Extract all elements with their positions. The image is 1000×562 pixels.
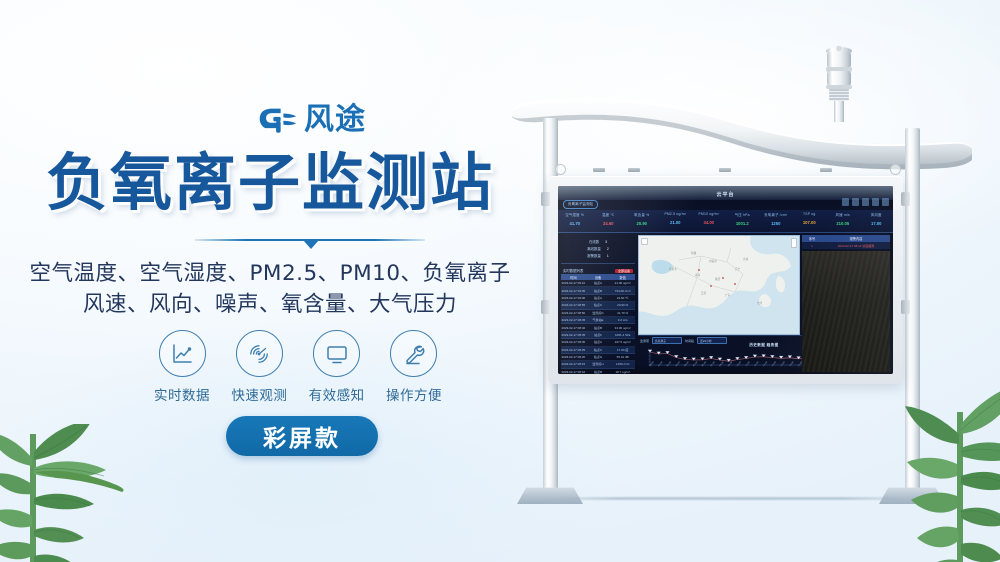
column-header: 序号: [802, 236, 822, 241]
feature-list: 实时数据 快速观测: [148, 330, 448, 404]
stat-value: 41.70: [558, 221, 592, 226]
chart-icon[interactable]: [862, 198, 869, 206]
chart-selector-label: 时间段: [685, 339, 694, 343]
svg-text:03:00: 03:00: [675, 361, 681, 367]
table-cell: 2023-02-17 08:15: [561, 362, 586, 366]
table-cell: 1250 /cm³: [610, 362, 635, 366]
table-cell: 2023-02-17 08:50: [561, 311, 586, 315]
table-cell: 55.10 dB: [610, 355, 635, 359]
table-cell: 2023-02-17 09:10: [561, 281, 586, 285]
svg-text:吉林: 吉林: [743, 257, 749, 261]
svg-text:塔里木: 塔里木: [669, 267, 677, 271]
table-cell: 站点C: [586, 348, 611, 352]
table-row[interactable]: 2023-02-17 09:10站点A21.00 ug/m³: [561, 280, 635, 287]
table-cell: 20.90 %: [610, 303, 635, 307]
stat-label: 氧含量 %: [625, 212, 659, 217]
mini-stat-row: 报警数量 1: [563, 253, 633, 260]
feature-label: 操作方便: [380, 384, 448, 404]
table-row[interactable]: 2023-02-17 08:40站点B34.00 ug/m³: [561, 324, 635, 331]
stat-label: 空气湿度 %: [558, 212, 592, 217]
table-cell: 2023-02-17 08:25: [561, 348, 586, 352]
alarm-text: 2023-02-17 08:12 浓度超限: [822, 244, 890, 248]
table-cell: 2023-02-17 08:55: [561, 303, 586, 307]
mini-stat-value: 3: [605, 239, 607, 246]
table-cell: 站点C: [586, 303, 611, 307]
table-row[interactable]: 2023-02-17 08:20站点G55.10 dB: [561, 354, 635, 361]
table-cell: 3.2 m/s: [610, 318, 635, 322]
stat-card: 气压 hPa 1001.2: [726, 210, 760, 232]
table-cell: 34.00 ug/m³: [610, 326, 635, 330]
stat-value: 17.00: [860, 221, 894, 226]
alarm-row[interactable]: 1 2023-02-17 08:12 浓度超限: [802, 242, 890, 249]
china-map[interactable]: 新疆内蒙古 青海陕西 辽宁云南 广东吉林 塔里木台湾: [638, 235, 800, 335]
mini-stat-label: 在线数: [589, 239, 599, 246]
table-body: 2023-02-17 09:10站点A21.00 ug/m³2023-02-17…: [561, 280, 635, 374]
mount-clip-4: [820, 168, 832, 172]
table-cell: 气象站E: [586, 318, 611, 322]
table-cell: 1001.2 hPa: [610, 333, 635, 337]
table-row[interactable]: 2023-02-17 08:55站点C20.90 %: [561, 302, 635, 309]
table-cell: 2023-02-17 08:35: [561, 333, 586, 337]
stat-value: 107.00: [793, 220, 827, 225]
table-header: 时间 设备 数值: [561, 274, 635, 280]
table-row[interactable]: 2023-02-17 08:45气象站E3.2 m/s: [561, 317, 635, 324]
product-variant-badge[interactable]: 彩屏款: [226, 416, 378, 456]
stat-card: PM2.5 ug/m³ 21.00: [659, 210, 693, 232]
map-icon[interactable]: [852, 198, 859, 206]
table-cell: 站点A: [586, 296, 611, 300]
feature-item-effective-sensing: 有效感知: [303, 330, 371, 404]
table-cell: 站点B: [586, 370, 611, 374]
side-clip-top-left: [541, 192, 550, 206]
table-row[interactable]: 2023-02-17 08:50监测点D41.70 %: [561, 310, 635, 317]
mount-clip-2: [628, 168, 640, 172]
table-cell: 站点G: [586, 355, 611, 359]
stat-value: 34.00: [692, 220, 726, 225]
stat-value: 1250: [759, 221, 793, 226]
feature-item-fast-observation: 快速观测: [225, 330, 293, 404]
ground-shadow: [545, 497, 915, 500]
table-row[interactable]: 2023-02-17 09:00站点A24.60 ℃: [561, 295, 635, 302]
svg-text:青海: 青海: [695, 273, 701, 277]
table-row[interactable]: 2023-02-17 08:15监测点H1250 /cm³: [561, 361, 635, 368]
down-triangle-divider-icon: [303, 240, 319, 249]
table-cell: 107.0 ug/m³: [610, 340, 635, 344]
svg-text:06:00: 06:00: [702, 361, 708, 367]
svg-text:云南: 云南: [701, 291, 707, 295]
table-cell: 2023-02-17 08:10: [561, 370, 586, 374]
side-clip-bottom-left: [541, 300, 550, 314]
mini-stat-value: 2: [607, 246, 609, 253]
svg-text:04:00: 04:00: [684, 361, 690, 367]
stat-card: PM10 ug/m³ 34.00: [692, 210, 726, 232]
svg-text:12:00: 12:00: [754, 361, 760, 367]
column-header: 数值: [610, 275, 635, 280]
stat-value: 21.00: [659, 220, 693, 225]
table-cell: 734.00 /cm³: [610, 289, 635, 293]
table-row[interactable]: 2023-02-17 09:05站点B734.00 /cm³: [561, 287, 635, 294]
feature-label: 实时数据: [148, 384, 216, 404]
stat-value: 210.05: [826, 221, 860, 226]
mini-stat-label: 报警数量: [587, 253, 601, 260]
chart-selector-label: 监测项: [640, 339, 649, 343]
stat-label: 风速 m/s: [826, 212, 860, 217]
column-header: 时间: [561, 275, 586, 280]
feature-item-realtime-data: 实时数据: [148, 330, 216, 404]
stat-value: 1001.2: [726, 221, 760, 226]
table-cell: 41.70 %: [610, 311, 635, 315]
stat-label: PM10 ug/m³: [692, 212, 726, 216]
svg-text:13:00: 13:00: [763, 361, 769, 367]
stat-card: 温度 ℃ 24.60: [592, 210, 626, 232]
feature-label: 快速观测: [225, 384, 293, 404]
left-panel: 在线数 3 离线数量 2 报警数量 1 实时数据列表: [561, 235, 635, 372]
svg-text:05:00: 05:00: [693, 361, 699, 367]
mount-ring-right: [890, 164, 901, 175]
side-clip-top-right: [901, 192, 910, 206]
table-cell: 2023-02-17 08:40: [561, 326, 586, 330]
table-cell: 监测点D: [586, 311, 611, 315]
brand-name: 风途: [304, 105, 366, 135]
table-row[interactable]: 2023-02-17 08:30站点A107.0 ug/m³: [561, 339, 635, 346]
stat-card: 风速 m/s 210.05: [826, 210, 860, 232]
table-cell: 2023-02-17 08:20: [561, 355, 586, 359]
alarm-icon[interactable]: [872, 198, 879, 206]
stat-value: 24.60: [592, 221, 626, 226]
table-title-bar: 实时数据列表 全部设备: [561, 267, 635, 274]
table-row[interactable]: 2023-02-17 08:35站点F1001.2 hPa: [561, 332, 635, 339]
table-cell: 监测点H: [586, 362, 611, 366]
stat-label: 风向度: [860, 212, 894, 217]
promo-banner: 风途 负氧离子监测站 空气温度、空气湿度、PM2.5、PM10、负氧离子 风速、…: [0, 0, 1000, 562]
svg-text:广东: 广东: [725, 293, 731, 297]
map-layer-icon[interactable]: [641, 238, 648, 245]
grid-icon[interactable]: [842, 198, 849, 206]
table-cell: 2023-02-17 08:30: [561, 340, 586, 344]
mount-clip-1: [593, 168, 605, 172]
monitor-icon: [313, 330, 360, 377]
feature-label: 有效感知: [303, 384, 371, 404]
column-header: 设备: [586, 275, 611, 280]
svg-text:09:00: 09:00: [728, 361, 734, 367]
stat-card: 空气湿度 % 41.70: [558, 210, 592, 232]
stat-card: 风向度 17.00: [860, 210, 894, 232]
subtitle: 空气温度、空气湿度、PM2.5、PM10、负氧离子 风速、风向、噪声、氧含量、大…: [0, 258, 540, 320]
subtitle-line-2: 风速、风向、噪声、氧含量、大气压力: [0, 289, 540, 320]
title-divider: [195, 236, 425, 250]
user-icon[interactable]: [882, 198, 889, 206]
mini-stat-row: 离线数量 2: [563, 246, 633, 253]
map-zoom-icon[interactable]: [791, 238, 797, 248]
dashboard-toolbar[interactable]: [842, 198, 889, 206]
stat-label: PM2.5 ug/m³: [659, 212, 693, 216]
radar-scan-icon: [236, 330, 283, 377]
table-cell: 站点B: [586, 326, 611, 330]
alarm-index: 1: [802, 244, 822, 248]
mount-clip-3: [719, 168, 731, 172]
svg-text:15:00: 15:00: [780, 361, 786, 367]
svg-text:陕西: 陕西: [715, 277, 721, 281]
svg-text:11:00: 11:00: [745, 361, 751, 367]
page-title: 负氧离子监测站: [0, 150, 540, 215]
svg-text:16:00: 16:00: [789, 361, 795, 367]
svg-text:辽宁: 辽宁: [735, 267, 741, 271]
svg-text:内蒙古: 内蒙古: [709, 259, 717, 263]
stat-card: 负氧离子 /cm³ 1250: [759, 210, 793, 232]
stat-label: 气压 hPa: [726, 212, 760, 217]
lcd-screen: 云平台 负氧离子监测站 空气湿度 % 41.70 温度 ℃ 24.60: [558, 186, 893, 374]
table-cell: 站点A: [586, 281, 611, 285]
wrench-icon: [390, 330, 437, 377]
svg-text:台湾: 台湾: [757, 301, 763, 305]
camera-feed[interactable]: [802, 251, 890, 372]
fengtu-leaf-g-icon: [257, 103, 297, 137]
feature-item-easy-operation: 操作方便: [380, 330, 448, 404]
svg-text:07:00: 07:00: [710, 361, 716, 367]
stat-label: 负氧离子 /cm³: [759, 212, 793, 217]
column-header: 报警内容: [822, 236, 890, 241]
alarm-header: 序号 报警内容: [802, 235, 890, 242]
brand-logo: 风途: [257, 103, 366, 137]
stat-value: 20.90: [625, 221, 659, 226]
right-panel: 序号 报警内容 1 2023-02-17 08:12 浓度超限: [802, 235, 890, 372]
dashboard-body: 在线数 3 离线数量 2 报警数量 1 实时数据列表: [558, 233, 893, 374]
table-cell: 17.00 度: [610, 348, 635, 352]
side-clip-bottom-right: [901, 300, 910, 314]
table-cell: 18.7 ug/m³: [610, 370, 635, 374]
table-cell: 站点A: [586, 340, 611, 344]
svg-text:新疆: 新疆: [691, 251, 697, 255]
table-title: 实时数据列表: [563, 268, 583, 273]
mini-stat-label: 离线数量: [587, 246, 601, 253]
svg-text:08:00: 08:00: [719, 361, 725, 367]
svg-text:10:00: 10:00: [737, 361, 743, 367]
table-cell: 21.00 ug/m³: [610, 281, 635, 285]
stat-card: TSP ug 107.00: [793, 210, 827, 232]
table-row[interactable]: 2023-02-17 08:25站点C17.00 度: [561, 347, 635, 354]
svg-text:02:00: 02:00: [667, 361, 673, 367]
table-row[interactable]: 2023-02-17 08:10站点B18.7 ug/m³: [561, 369, 635, 374]
table-cell: 站点B: [586, 289, 611, 293]
mini-stat-row: 在线数 3: [563, 239, 633, 246]
stat-label: 温度 ℃: [592, 212, 626, 217]
table-cell: 2023-02-17 09:05: [561, 289, 586, 293]
station-tag[interactable]: 负氧离子监测站: [563, 200, 598, 209]
subtitle-line-1: 空气温度、空气湿度、PM2.5、PM10、负氧离子: [0, 258, 540, 289]
table-cell: 站点F: [586, 333, 611, 337]
table-action-button[interactable]: 全部设备: [615, 269, 633, 273]
stat-card: 氧含量 % 20.90: [625, 210, 659, 232]
svg-text:01:00: 01:00: [658, 361, 664, 367]
mini-stats: 在线数 3 离线数量 2 报警数量 1: [561, 235, 635, 264]
mount-ring-left: [555, 164, 566, 175]
stats-row: 空气湿度 % 41.70 温度 ℃ 24.60 氧含量 % 20.90 PM2.…: [558, 210, 893, 233]
table-cell: 2023-02-17 08:45: [561, 318, 586, 322]
table-cell: 2023-02-17 09:00: [561, 296, 586, 300]
line-chart-icon: [159, 330, 206, 377]
svg-text:14:00: 14:00: [772, 361, 778, 367]
table-cell: 24.60 ℃: [610, 296, 635, 300]
mini-stat-value: 1: [607, 253, 609, 260]
stat-label: TSP ug: [793, 212, 827, 216]
